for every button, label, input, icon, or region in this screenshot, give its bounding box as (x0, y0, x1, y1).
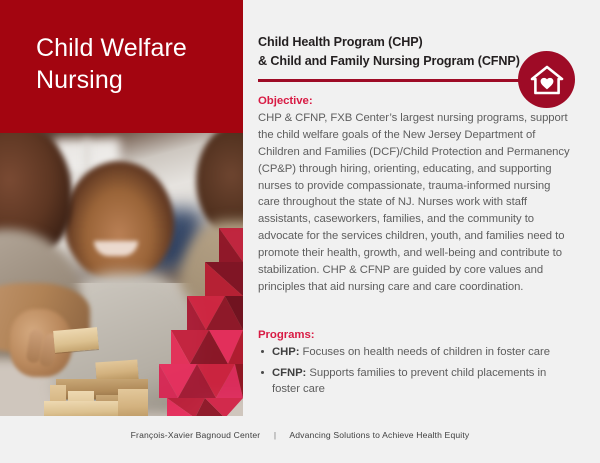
list-item: CFNP: Supports families to prevent child… (258, 365, 576, 398)
footer-tagline: Advancing Solutions to Achieve Health Eq… (289, 430, 469, 440)
page-title-line-2: Nursing (36, 64, 236, 96)
house-heart-glyph (530, 64, 564, 96)
title-block: Child Welfare Nursing (0, 0, 243, 133)
program-term: CHP: (272, 346, 299, 358)
program-header-line-2: & Child and Family Nursing Program (CFNP… (258, 52, 540, 71)
footer-separator: | (263, 430, 287, 440)
photo-block-held (53, 327, 99, 353)
objective-body: CHP & CFNP, FXB Center’s largest nursing… (258, 110, 570, 296)
photo-block-7 (44, 401, 118, 416)
programs-list: CHP: Focuses on health needs of children… (258, 344, 576, 402)
left-column: Child Welfare Nursing (0, 0, 243, 416)
footer: François-Xavier Bagnoud Center | Advanci… (0, 416, 600, 463)
slide-canvas: Child Welfare Nursing (0, 0, 600, 463)
programs-label: Programs: (258, 329, 315, 341)
footer-content: François-Xavier Bagnoud Center | Advanci… (0, 430, 600, 440)
program-term: CFNP: (272, 367, 306, 379)
footer-org-name: François-Xavier Bagnoud Center (131, 430, 261, 440)
program-description: Focuses on health needs of children in f… (299, 346, 550, 358)
page-title-line-1: Child Welfare (36, 32, 236, 64)
triangle-mosaic-svg (143, 228, 243, 416)
program-header: Child Health Program (CHP) & Child and F… (258, 33, 540, 71)
hero-photo (0, 133, 243, 416)
page-title: Child Welfare Nursing (36, 32, 236, 96)
list-item: CHP: Focuses on health needs of children… (258, 344, 576, 361)
header-divider-rule (258, 79, 524, 82)
program-description: Supports families to prevent child place… (272, 367, 546, 396)
house-heart-icon (518, 51, 575, 108)
triangle-mosaic-overlay (143, 228, 243, 416)
program-header-line-1: Child Health Program (CHP) (258, 33, 540, 52)
objective-label: Objective: (258, 95, 313, 107)
